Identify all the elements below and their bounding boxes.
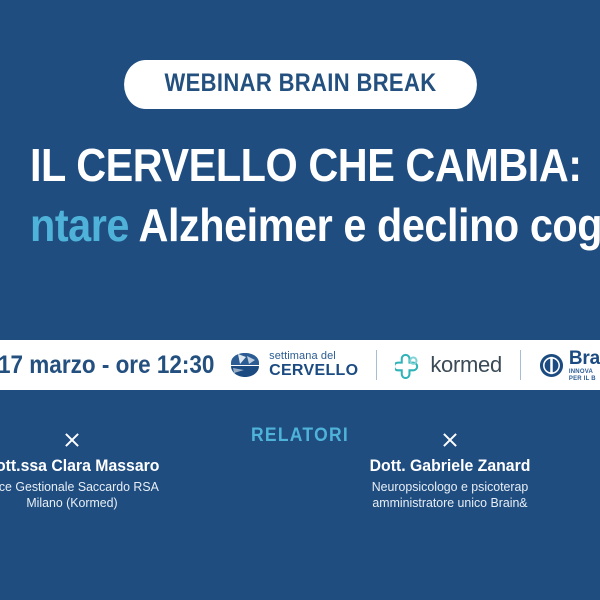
brain-circle-icon (539, 353, 564, 378)
logo-settimana-del-cervello: settimana del CERVELLO (228, 351, 358, 379)
logo-kormed-text: kormed (430, 354, 502, 376)
logo-settimana-line1: settimana del (269, 351, 358, 362)
logo-divider (520, 350, 521, 380)
logo-group: settimana del CERVELLO kormed Bra (228, 340, 600, 390)
title-accent-word: ntare (30, 199, 129, 251)
speakers-container: Dott.ssa Clara Massaro ttrice Gestionale… (0, 430, 600, 511)
info-bar: 17 marzo - ore 12:30 settimana del CERVE… (0, 340, 600, 390)
logo-brain-name: Bra (569, 349, 600, 368)
cross-sparkle-icon (440, 430, 460, 450)
medical-cross-circles-icon (395, 352, 422, 379)
badge-container: WEBINAR BRAIN BREAK (0, 60, 600, 109)
speaker-name: Dott. Gabriele Zanard (311, 456, 590, 476)
speaker-role-line-1: ttrice Gestionale Saccardo RSA (0, 479, 215, 495)
logo-settimana-text: settimana del CERVELLO (269, 351, 358, 379)
speaker-role-line-2: amministratore unico Brain& (308, 495, 593, 511)
speaker-name: Dott.ssa Clara Massaro (0, 456, 212, 476)
speaker-card-right: Dott. Gabriele Zanard Neuropsicologo e p… (300, 430, 600, 511)
logo-divider (376, 350, 377, 380)
title-line-1: IL CERVELLO CHE CAMBIA: (30, 142, 570, 189)
logo-settimana-line2: CERVELLO (269, 363, 358, 379)
logo-brain-and-care: Bra INNOVA PER IL B (539, 349, 600, 382)
logo-brain-tagline-2: PER IL B (569, 376, 600, 382)
speaker-role-line-2: Milano (Kormed) (0, 495, 215, 511)
speaker-role-line-1: Neuropsicologo e psicoterap (308, 479, 593, 495)
logo-brain-text: Bra INNOVA PER IL B (569, 349, 600, 382)
webinar-badge: WEBINAR BRAIN BREAK (124, 60, 477, 109)
speaker-role: ttrice Gestionale Saccardo RSA Milano (K… (0, 479, 215, 512)
faceted-brain-icon (228, 352, 262, 378)
logo-brain-tagline-1: INNOVA (569, 369, 600, 375)
cross-sparkle-icon (62, 430, 82, 450)
title-line-2-rest: Alzheimer e declino cog (129, 199, 600, 251)
speaker-card-left: Dott.ssa Clara Massaro ttrice Gestionale… (0, 430, 222, 511)
logo-kormed: kormed (395, 352, 502, 379)
title-line-2: ntare Alzheimer e declino cog (30, 201, 570, 249)
event-date: 17 marzo - ore 12:30 (0, 351, 214, 380)
speaker-role: Neuropsicologo e psicoterap amministrato… (308, 479, 593, 512)
page-title: IL CERVELLO CHE CAMBIA: ntare Alzheimer … (0, 142, 600, 250)
